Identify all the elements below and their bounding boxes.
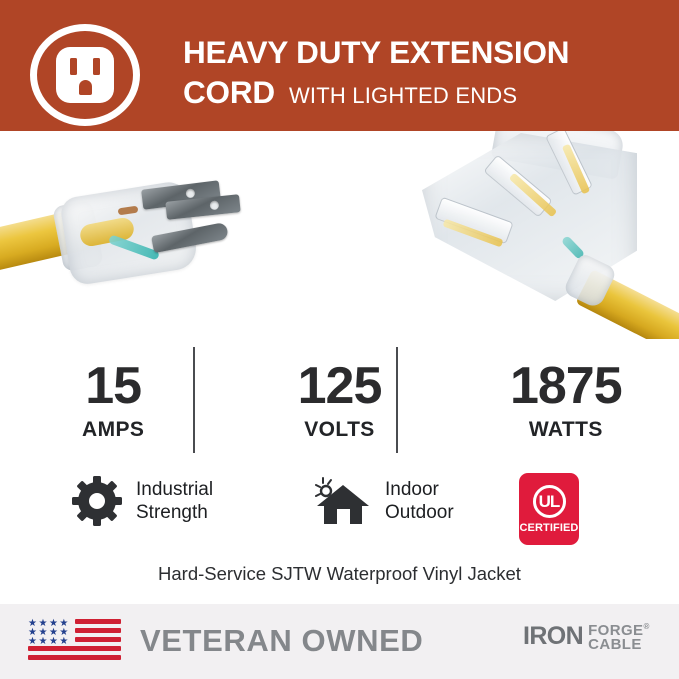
spec-watts: 1875 WATTS bbox=[453, 359, 679, 442]
house-sun-icon bbox=[315, 476, 371, 526]
feature-1-line1: Industrial bbox=[136, 478, 213, 501]
prong-hole bbox=[209, 200, 219, 210]
feature-indoor-outdoor-text: Indoor Outdoor bbox=[385, 478, 454, 524]
spec-volts-value: 125 bbox=[298, 359, 382, 413]
feature-industrial-strength-text: Industrial Strength bbox=[136, 478, 213, 524]
outlet-icon-face bbox=[56, 47, 114, 103]
feature-indoor-outdoor: Indoor Outdoor bbox=[315, 476, 454, 526]
ul-mark-circle: UL bbox=[533, 485, 566, 518]
spec-divider-2 bbox=[396, 347, 398, 453]
jacket-description: Hard-Service SJTW Waterproof Vinyl Jacke… bbox=[0, 563, 679, 585]
specs-row: 15 AMPS 125 VOLTS 1875 WATTS bbox=[0, 342, 679, 458]
spec-volts: 125 VOLTS bbox=[226, 359, 452, 442]
product-infographic: HEAVY DUTY EXTENSION CORD WITH LIGHTED E… bbox=[0, 0, 679, 679]
ul-certified-badge: UL CERTIFIED bbox=[519, 473, 579, 545]
prong-hole bbox=[185, 188, 195, 198]
page-title-line1: HEAVY DUTY EXTENSION bbox=[183, 34, 663, 70]
feature-1-line2: Strength bbox=[136, 501, 213, 524]
brand-logo: IRON FORGE® CABLE bbox=[523, 620, 650, 652]
brand-name-iron: IRON bbox=[523, 624, 583, 649]
female-plug-image bbox=[408, 131, 679, 339]
spec-amps-label: AMPS bbox=[82, 418, 144, 442]
us-flag-icon: ★★★★ ★★★★ ★★★★ bbox=[28, 618, 121, 666]
page-title-line2: CORD WITH LIGHTED ENDS bbox=[183, 75, 663, 113]
spec-watts-value: 1875 bbox=[510, 359, 622, 413]
power-outlet-icon bbox=[30, 24, 140, 126]
brand-name-forge: FORGE® bbox=[588, 620, 650, 638]
feature-2-line2: Outdoor bbox=[385, 501, 454, 524]
brand-forge-word: FORGE bbox=[588, 622, 643, 639]
header-banner: HEAVY DUTY EXTENSION CORD WITH LIGHTED E… bbox=[0, 0, 679, 131]
outlet-ground-hole bbox=[79, 80, 92, 95]
registered-mark-icon: ® bbox=[643, 622, 649, 631]
ul-mark-letters: UL bbox=[539, 493, 560, 510]
outlet-slot-left bbox=[70, 58, 77, 75]
product-photo-area: Male End Lighted 3 Plug Female End bbox=[0, 131, 679, 339]
brand-name-stack: FORGE® CABLE bbox=[588, 620, 650, 652]
flag-stripe bbox=[75, 628, 121, 633]
outlet-slot-right bbox=[93, 58, 100, 75]
ul-certified-text: CERTIFIED bbox=[520, 522, 579, 534]
feature-2-line1: Indoor bbox=[385, 478, 454, 501]
flag-stripe bbox=[28, 646, 121, 651]
spec-volts-label: VOLTS bbox=[304, 418, 374, 442]
flag-stripe bbox=[28, 655, 121, 660]
spec-watts-label: WATTS bbox=[529, 418, 603, 442]
gear-icon bbox=[72, 476, 122, 526]
page-title-cord: CORD bbox=[183, 75, 275, 109]
spec-divider-1 bbox=[193, 347, 195, 453]
header-title-block: HEAVY DUTY EXTENSION CORD WITH LIGHTED E… bbox=[183, 34, 663, 113]
page-subtitle: WITH LIGHTED ENDS bbox=[289, 79, 517, 113]
veteran-owned-text: VETERAN OWNED bbox=[140, 620, 423, 662]
brand-name-cable: CABLE bbox=[588, 638, 650, 652]
feature-industrial-strength: Industrial Strength bbox=[72, 476, 213, 526]
flag-stripe bbox=[75, 619, 121, 624]
flag-stripe bbox=[75, 637, 121, 642]
spec-amps-value: 15 bbox=[85, 359, 141, 413]
male-plug-image bbox=[0, 159, 280, 299]
